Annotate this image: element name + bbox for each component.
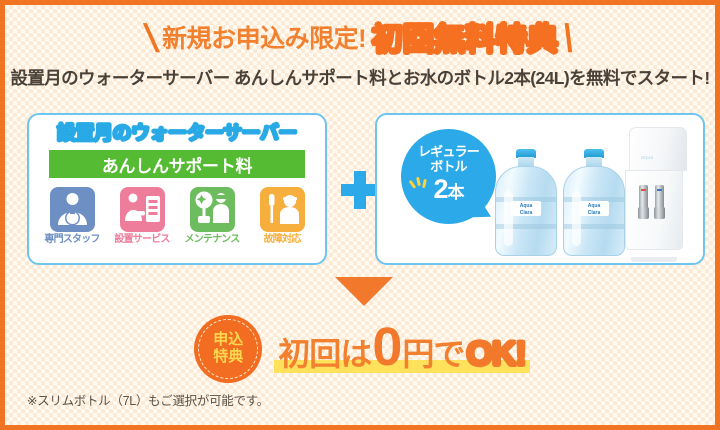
water-server-card: 設置月のウォーターサーバー あんしんサポート料 専門スタッフ — [27, 113, 327, 265]
service-item-specialist-staff: 専門スタッフ — [40, 187, 104, 245]
server-top-unit — [629, 127, 687, 171]
service-label-breakdown: 故障対応 — [250, 235, 314, 245]
badge-line2: 特典 — [213, 349, 243, 366]
water-bottles-card: レギュラー ボトル 2本 Aqua C — [375, 113, 705, 265]
offer-section: 申込 特典 初回は 0 円で OK! — [5, 315, 715, 383]
service-item-breakdown: 故障対応 — [250, 187, 314, 245]
water-bottle-icon: Aqua Clara — [495, 149, 557, 256]
breakdown-support-icon — [260, 187, 305, 232]
support-fee-bar: あんしんサポート料 — [49, 150, 305, 178]
footnote-text: ※スリムボトル（7L）もご選択が可能です。 — [27, 390, 269, 409]
application-bonus-badge: 申込 特典 — [194, 315, 262, 383]
slash-right-decoration: / — [558, 19, 579, 58]
water-server-card-title: 設置月のウォーターサーバー — [29, 124, 325, 143]
promo-banner: \ 新規お申込み限定! 初回無料特典 / 設置月のウォーターサーバー あんしんサ… — [0, 0, 720, 430]
plus-icon — [341, 171, 379, 209]
water-server-icon: aqua — [625, 127, 687, 257]
bubble-count-number: 2 — [433, 174, 447, 204]
service-item-installation: 設置サービス — [110, 187, 174, 245]
bottle-brand-line1: Aqua — [520, 203, 533, 209]
offer-cards: 設置月のウォーターサーバー あんしんサポート料 専門スタッフ — [23, 113, 707, 271]
water-bottle-group: Aqua Clara Aqua Clara — [495, 141, 631, 256]
banner-subtitle: 設置月のウォーターサーバー あんしんサポート料とお水のボトル2本(24L)を無料… — [5, 68, 715, 89]
bubble-line1: レギュラー — [401, 129, 496, 160]
service-label-installation: 設置サービス — [110, 235, 174, 245]
price-ok-text: OK! — [466, 335, 525, 374]
bottle-brand-label: Aqua Clara — [511, 201, 541, 216]
headline-row: \ 新規お申込み限定! 初回無料特典 / — [5, 19, 715, 59]
price-amount: 0 — [372, 323, 401, 372]
bottle-brand-line2: Clara — [588, 210, 601, 216]
headline-big-text: 初回無料特典 — [372, 24, 558, 55]
headline-small-text: 新規お申込み限定! — [162, 27, 366, 52]
cold-water-tap — [655, 185, 664, 211]
price-unit: 円で — [402, 329, 464, 375]
installation-service-icon — [120, 187, 165, 232]
slash-left-decoration: \ — [141, 19, 162, 58]
sparkle-icon — [409, 176, 429, 192]
bottle-shine — [504, 191, 513, 246]
cold-tap-spout — [654, 207, 665, 219]
bottle-brand-label: Aqua Clara — [579, 201, 609, 216]
price-statement: 初回は 0 円で OK! — [278, 323, 525, 375]
service-label-maintenance: メンテナンス — [180, 235, 244, 245]
hot-water-tap — [639, 185, 648, 211]
down-arrow-icon — [335, 277, 393, 306]
cold-indicator — [657, 189, 662, 191]
banner-header: \ 新規お申込み限定! 初回無料特典 / 設置月のウォーターサーバー あんしんサ… — [5, 19, 715, 89]
specialist-staff-icon — [50, 187, 95, 232]
badge-line1: 申込 — [213, 332, 243, 349]
bubble-count-unit: 本 — [448, 183, 464, 202]
bottle-shine — [572, 191, 581, 246]
bottle-brand-line2: Clara — [520, 210, 533, 216]
hot-indicator — [641, 189, 646, 191]
server-base — [631, 257, 677, 262]
regular-bottle-bubble: レギュラー ボトル 2本 — [401, 129, 496, 224]
hot-tap-spout — [638, 207, 649, 219]
bottle-brand-line1: Aqua — [588, 203, 601, 209]
maintenance-icon — [190, 187, 235, 232]
water-bottle-icon: Aqua Clara — [563, 149, 625, 256]
service-label-specialist-staff: 専門スタッフ — [40, 235, 104, 245]
bubble-line2: ボトル — [401, 160, 496, 175]
server-brand-label: aqua — [641, 155, 654, 161]
price-prefix: 初回は — [278, 329, 371, 375]
service-icon-row: 専門スタッフ 設置サービス — [29, 187, 325, 245]
service-item-maintenance: メンテナンス — [180, 187, 244, 245]
